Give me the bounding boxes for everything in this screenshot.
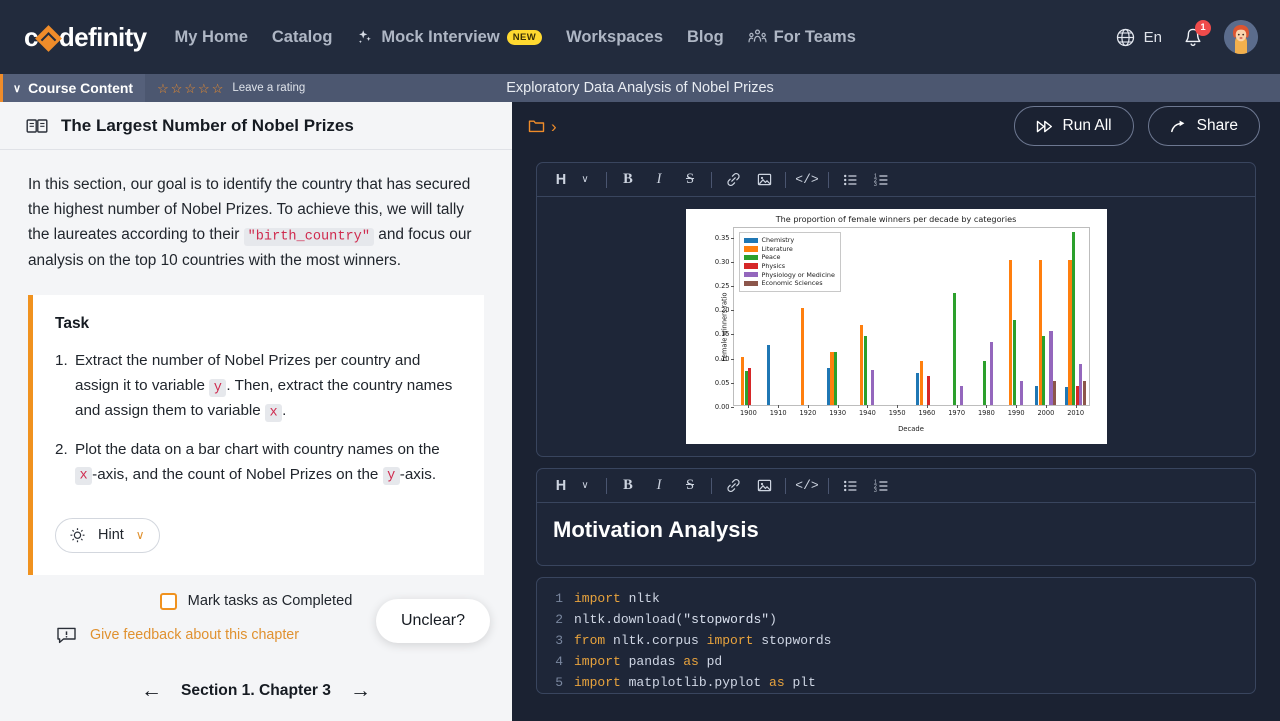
share-label: Share bbox=[1197, 117, 1238, 135]
chart-y-tick-mark bbox=[731, 359, 734, 360]
code-token: pd bbox=[707, 654, 723, 669]
lesson-body: In this section, our goal is to identify… bbox=[0, 150, 512, 645]
chevron-down-icon: ∨ bbox=[13, 82, 21, 95]
lesson-intro-paragraph: In this section, our goal is to identify… bbox=[28, 172, 484, 273]
chart-bar bbox=[864, 336, 867, 405]
chart-bar bbox=[953, 293, 956, 405]
share-button[interactable]: Share bbox=[1148, 106, 1260, 146]
course-content-toggle[interactable]: ∨ Course Content bbox=[0, 74, 145, 102]
top-navigation-bar: c definity My Home Catalog Mock Intervie… bbox=[0, 0, 1280, 74]
chart-x-tick-mark bbox=[986, 405, 987, 408]
main-split-layout: The Largest Number of Nobel Prizes In th… bbox=[0, 102, 1280, 721]
language-label: En bbox=[1144, 29, 1162, 46]
toolbar-divider bbox=[785, 478, 786, 494]
nav-item-blog-label: Blog bbox=[687, 28, 724, 47]
book-icon bbox=[26, 117, 48, 135]
chart-legend-label: Peace bbox=[762, 253, 781, 261]
chart-x-axis-label: Decade bbox=[733, 425, 1090, 433]
chart-y-tick-label: 0.25 bbox=[715, 282, 730, 290]
chart-bar bbox=[960, 386, 963, 405]
code-line-content: nltk.download("stopwords") bbox=[574, 612, 777, 627]
nav-item-workspaces[interactable]: Workspaces bbox=[566, 28, 663, 47]
code-token: "stopwords" bbox=[683, 612, 769, 627]
chart-bar bbox=[767, 345, 770, 405]
chart-bar bbox=[1072, 232, 1075, 405]
nav-item-for-teams[interactable]: For Teams bbox=[748, 28, 856, 47]
chart-x-tick-mark bbox=[1046, 405, 1047, 408]
chart-x-tick-mark bbox=[778, 405, 779, 408]
code-brackets-icon[interactable]: </> bbox=[795, 168, 819, 192]
chart-y-tick-label: 0.35 bbox=[715, 234, 730, 242]
code-editor-lines[interactable]: 1import nltk2nltk.download("stopwords")3… bbox=[537, 588, 1255, 693]
notebook-cell-output: H ∨ B I S </> bbox=[536, 162, 1256, 457]
mark-completed-label: Mark tasks as Completed bbox=[188, 593, 353, 609]
notebook-breadcrumb[interactable]: › bbox=[528, 118, 557, 135]
notebook-actions: Run All Share bbox=[1014, 106, 1261, 146]
code-token: plt bbox=[792, 675, 815, 690]
people-icon bbox=[748, 28, 767, 46]
lesson-header: The Largest Number of Nobel Prizes bbox=[0, 102, 512, 150]
chart-legend-label: Economic Sciences bbox=[762, 279, 823, 287]
course-bar: ∨ Course Content ☆ ☆ ☆ ☆ ☆ Leave a ratin… bbox=[0, 74, 1280, 102]
chart-bar bbox=[748, 368, 751, 405]
code-token: as bbox=[769, 675, 792, 690]
cell-toolbar-2: H ∨ B I S </> bbox=[537, 469, 1255, 503]
run-all-button[interactable]: Run All bbox=[1014, 106, 1134, 146]
chart-x-tick-mark bbox=[957, 405, 958, 408]
notebook-cell-markdown: H ∨ B I S </> bbox=[536, 468, 1256, 566]
notebook-panel: › Run All bbox=[512, 102, 1280, 721]
cell-toolbar-1: H ∨ B I S </> bbox=[537, 163, 1255, 197]
code-line-number: 2 bbox=[547, 612, 563, 627]
unclear-button[interactable]: Unclear? bbox=[376, 599, 490, 643]
code-line-number: 4 bbox=[547, 654, 563, 669]
bold-button[interactable]: B bbox=[616, 168, 640, 192]
user-avatar[interactable] bbox=[1224, 20, 1258, 54]
chart-y-tick-mark bbox=[731, 286, 734, 287]
task-1-var-x: x bbox=[265, 404, 282, 422]
code-token: import bbox=[574, 591, 629, 606]
star-icon-3[interactable]: ☆ bbox=[184, 82, 196, 95]
toolbar-divider bbox=[711, 478, 712, 494]
comment-alert-icon bbox=[56, 626, 77, 645]
bold-button[interactable]: B bbox=[616, 474, 640, 498]
brand-logo-text: c definity bbox=[24, 22, 147, 53]
code-line: 2nltk.download("stopwords") bbox=[537, 609, 1255, 630]
chart-y-tick-mark bbox=[731, 262, 734, 263]
nav-item-catalog-label: Catalog bbox=[272, 28, 333, 47]
toolbar-divider bbox=[785, 172, 786, 188]
chart-bar bbox=[834, 352, 837, 405]
toolbar-divider bbox=[828, 172, 829, 188]
chart-y-tick-mark bbox=[731, 383, 734, 384]
chart-legend-item: Physiology or Medicine bbox=[744, 270, 835, 279]
code-token: ) bbox=[769, 612, 777, 627]
brand-logo[interactable]: c definity bbox=[24, 22, 147, 53]
nav-item-my-home-label: My Home bbox=[175, 28, 248, 47]
folder-icon[interactable] bbox=[528, 118, 545, 134]
chart-x-tick-label: 1980 bbox=[978, 409, 995, 417]
chart-legend-item: Literature bbox=[744, 245, 835, 254]
nav-item-my-home[interactable]: My Home bbox=[175, 28, 248, 47]
chart-x-tick-label: 2010 bbox=[1067, 409, 1084, 417]
nav-item-catalog[interactable]: Catalog bbox=[272, 28, 333, 47]
chart-legend-item: Peace bbox=[744, 253, 835, 262]
chart-legend: ChemistryLiteraturePeacePhysicsPhysiolog… bbox=[739, 232, 841, 292]
heading-dropdown-button[interactable]: H bbox=[549, 474, 573, 498]
chart-bar bbox=[990, 342, 993, 405]
chart-y-tick-mark bbox=[731, 407, 734, 408]
code-line-number: 1 bbox=[547, 591, 563, 606]
chart-y-tick-mark bbox=[731, 238, 734, 239]
code-line-number: 3 bbox=[547, 633, 563, 648]
task-heading: Task bbox=[55, 315, 460, 333]
code-line-content: import matplotlib.pyplot as plt bbox=[574, 675, 816, 690]
chevron-down-icon: ∨ bbox=[136, 528, 145, 542]
give-feedback-label: Give feedback about this chapter bbox=[90, 627, 299, 643]
chart-legend-label: Chemistry bbox=[762, 236, 795, 244]
task-list: Extract the number of Nobel Prizes per c… bbox=[55, 349, 460, 487]
chart-bar bbox=[871, 370, 874, 405]
chart-y-tick-label: 0.20 bbox=[715, 306, 730, 314]
code-token: pandas bbox=[629, 654, 684, 669]
code-line: 1import nltk bbox=[537, 588, 1255, 609]
code-line-content: import pandas as pd bbox=[574, 654, 722, 669]
numbered-list-icon[interactable]: 123 bbox=[869, 474, 893, 498]
toolbar-divider bbox=[828, 478, 829, 494]
image-icon[interactable] bbox=[752, 168, 776, 192]
chart-x-tick-label: 1930 bbox=[829, 409, 846, 417]
task-2-text-c: -axis. bbox=[400, 466, 436, 483]
chart-y-tick-label: 0.30 bbox=[715, 258, 730, 266]
chart-legend-swatch bbox=[744, 246, 758, 252]
chart-y-tick-mark bbox=[731, 310, 734, 311]
task-2-var-y: y bbox=[383, 467, 400, 485]
code-token: matplotlib.pyplot bbox=[629, 675, 769, 690]
section-navigation: ← Section 1. Chapter 3 → bbox=[0, 679, 512, 703]
star-icon-4[interactable]: ☆ bbox=[198, 82, 210, 95]
chart-bar bbox=[920, 361, 923, 405]
chart-bar bbox=[927, 376, 930, 405]
chart-x-tick-mark bbox=[927, 405, 928, 408]
code-token: download bbox=[613, 612, 675, 627]
notification-count-badge: 1 bbox=[1195, 20, 1211, 36]
brand-logo-suffix: definity bbox=[59, 22, 147, 53]
chart-x-tick-label: 1950 bbox=[889, 409, 906, 417]
chart-y-tick-mark bbox=[731, 334, 734, 335]
chart-bar bbox=[1083, 381, 1086, 405]
link-icon[interactable] bbox=[721, 168, 745, 192]
strikethrough-button[interactable]: S bbox=[678, 474, 702, 498]
chart-x-tick-label: 1910 bbox=[770, 409, 787, 417]
chart-bar bbox=[1042, 336, 1045, 405]
chart-bar bbox=[1020, 381, 1023, 405]
code-token: import bbox=[707, 633, 762, 648]
chart-legend-swatch bbox=[744, 238, 758, 244]
section-chapter-label: Section 1. Chapter 3 bbox=[181, 682, 331, 700]
star-rating[interactable]: ☆ ☆ ☆ ☆ ☆ bbox=[157, 82, 223, 95]
numbered-list-icon[interactable]: 123 bbox=[869, 168, 893, 192]
diamond-code-icon bbox=[35, 25, 62, 52]
task-2-text-b: -axis, and the count of Nobel Prizes on … bbox=[92, 466, 382, 483]
chart-x-tick-mark bbox=[867, 405, 868, 408]
notebook-topbar: › Run All bbox=[512, 102, 1280, 150]
chart-legend-label: Physiology or Medicine bbox=[762, 271, 835, 279]
rating-widget[interactable]: ☆ ☆ ☆ ☆ ☆ Leave a rating bbox=[145, 82, 305, 95]
svg-text:3: 3 bbox=[874, 488, 877, 493]
code-token: as bbox=[683, 654, 706, 669]
strikethrough-button[interactable]: S bbox=[678, 168, 702, 192]
notebook-cells: H ∨ B I S </> bbox=[512, 150, 1280, 694]
matplotlib-figure: The proportion of female winners per dec… bbox=[686, 209, 1107, 444]
previous-chapter-arrow[interactable]: ← bbox=[141, 679, 162, 703]
task-1-text-c: . bbox=[282, 402, 286, 419]
toolbar-divider bbox=[711, 172, 712, 188]
chart-legend-swatch bbox=[744, 263, 758, 269]
image-icon[interactable] bbox=[752, 474, 776, 498]
star-icon-2[interactable]: ☆ bbox=[171, 82, 183, 95]
markdown-cell-text[interactable]: Motivation Analysis bbox=[537, 503, 1255, 565]
heading-dropdown-button[interactable]: H bbox=[549, 168, 573, 192]
code-token: import bbox=[574, 675, 629, 690]
code-line-content: from nltk.corpus import stopwords bbox=[574, 633, 831, 648]
chart-x-tick-mark bbox=[748, 405, 749, 408]
chart-legend-swatch bbox=[744, 255, 758, 261]
task-card: Task Extract the number of Nobel Prizes … bbox=[28, 295, 484, 574]
nav-item-for-teams-label: For Teams bbox=[774, 28, 856, 47]
chart-x-tick-mark bbox=[897, 405, 898, 408]
chart-y-tick-label: 0.15 bbox=[715, 330, 730, 338]
chart-y-axis-label: Female winners ratio bbox=[720, 292, 728, 361]
code-token: nltk bbox=[629, 591, 660, 606]
chart-x-tick-label: 1940 bbox=[859, 409, 876, 417]
chart-legend-swatch bbox=[744, 272, 758, 278]
hint-label: Hint bbox=[98, 527, 124, 543]
mark-completed-checkbox[interactable] bbox=[160, 593, 177, 610]
nav-item-workspaces-label: Workspaces bbox=[566, 28, 663, 47]
course-content-label: Course Content bbox=[28, 80, 133, 96]
nav-badge-new: NEW bbox=[507, 30, 542, 45]
nav-item-mock-interview-label: Mock Interview bbox=[381, 28, 499, 47]
chart-x-tick-mark bbox=[1076, 405, 1077, 408]
globe-icon bbox=[1115, 27, 1136, 48]
chart-y-tick-label: 0.10 bbox=[715, 355, 730, 363]
svg-text:3: 3 bbox=[874, 182, 877, 187]
code-line-number: 5 bbox=[547, 675, 563, 690]
chart-legend-item: Economic Sciences bbox=[744, 279, 835, 288]
task-item-2: Plot the data on a bar chart with countr… bbox=[55, 438, 460, 488]
chart-x-tick-label: 1900 bbox=[740, 409, 757, 417]
chart-x-tick-label: 1920 bbox=[799, 409, 816, 417]
chart-x-tick-mark bbox=[1016, 405, 1017, 408]
task-2-var-x: x bbox=[75, 467, 92, 485]
chart-y-tick-label: 0.05 bbox=[715, 379, 730, 387]
lightbulb-icon bbox=[69, 527, 86, 544]
task-item-1: Extract the number of Nobel Prizes per c… bbox=[55, 349, 460, 424]
code-token: import bbox=[574, 654, 629, 669]
next-chapter-arrow[interactable]: → bbox=[350, 679, 371, 703]
chevron-down-icon[interactable]: ∨ bbox=[573, 168, 597, 192]
bullet-list-icon[interactable] bbox=[838, 168, 862, 192]
code-line-content: import nltk bbox=[574, 591, 660, 606]
chart-title: The proportion of female winners per dec… bbox=[686, 214, 1107, 224]
code-line: 4import pandas as pd bbox=[537, 651, 1255, 672]
code-line: 5import matplotlib.pyplot as plt bbox=[537, 672, 1255, 693]
chart-x-tick-label: 1970 bbox=[948, 409, 965, 417]
top-nav-right-cluster: En 1 bbox=[1115, 0, 1258, 74]
toolbar-divider bbox=[606, 478, 607, 494]
chart-x-tick-mark bbox=[808, 405, 809, 408]
star-icon-1[interactable]: ☆ bbox=[157, 82, 169, 95]
code-line: 3from nltk.corpus import stopwords bbox=[537, 630, 1255, 651]
chart-legend-swatch bbox=[744, 281, 758, 287]
chevron-down-icon[interactable]: ∨ bbox=[573, 474, 597, 498]
chart-x-tick-label: 2000 bbox=[1037, 409, 1054, 417]
code-token: nltk.corpus bbox=[613, 633, 707, 648]
chart-plot-area: ChemistryLiteraturePeacePhysicsPhysiolog… bbox=[733, 227, 1090, 406]
code-brackets-icon[interactable]: </> bbox=[795, 474, 819, 498]
lesson-panel: The Largest Number of Nobel Prizes In th… bbox=[0, 102, 512, 721]
chart-legend-label: Physics bbox=[762, 262, 786, 270]
chart-legend-item: Physics bbox=[744, 262, 835, 271]
page-title: The Largest Number of Nobel Prizes bbox=[61, 116, 354, 136]
bullet-list-icon[interactable] bbox=[838, 474, 862, 498]
share-arrow-icon bbox=[1170, 119, 1187, 134]
code-token: from bbox=[574, 633, 613, 648]
task-2-text-a: Plot the data on a bar chart with countr… bbox=[75, 441, 440, 458]
chart-bar bbox=[801, 308, 804, 405]
code-token: . bbox=[605, 612, 613, 627]
sparkle-icon bbox=[356, 28, 374, 46]
chart-x-tick-label: 1960 bbox=[918, 409, 935, 417]
nav-item-mock-interview[interactable]: Mock Interview NEW bbox=[356, 28, 542, 47]
link-icon[interactable] bbox=[721, 474, 745, 498]
chart-x-tick-mark bbox=[838, 405, 839, 408]
code-token: nltk bbox=[574, 612, 605, 627]
run-all-label: Run All bbox=[1063, 117, 1112, 135]
language-selector[interactable]: En bbox=[1115, 27, 1162, 48]
chart-bar bbox=[983, 361, 986, 405]
cell-output-area: The proportion of female winners per dec… bbox=[537, 197, 1255, 456]
chart-bar bbox=[1053, 381, 1056, 405]
toolbar-divider bbox=[606, 172, 607, 188]
star-icon-5[interactable]: ☆ bbox=[212, 82, 224, 95]
fast-forward-icon bbox=[1036, 120, 1053, 133]
inline-code-birth-country: "birth_country" bbox=[244, 228, 374, 246]
nav-item-blog[interactable]: Blog bbox=[687, 28, 724, 47]
chevron-right-icon[interactable]: › bbox=[551, 118, 557, 135]
notifications-button[interactable]: 1 bbox=[1182, 26, 1204, 49]
chart-y-tick-label: 0.00 bbox=[715, 403, 730, 411]
chart-legend-item: Chemistry bbox=[744, 236, 835, 245]
hint-toggle-button[interactable]: Hint ∨ bbox=[55, 518, 160, 553]
chart-bar bbox=[1013, 320, 1016, 405]
chart-legend-label: Literature bbox=[762, 245, 793, 253]
chart-x-tick-label: 1990 bbox=[1008, 409, 1025, 417]
italic-button[interactable]: I bbox=[647, 474, 671, 498]
notebook-cell-code[interactable]: 1import nltk2nltk.download("stopwords")3… bbox=[536, 577, 1256, 694]
leave-rating-label: Leave a rating bbox=[232, 82, 305, 94]
task-1-var-y: y bbox=[209, 379, 226, 397]
italic-button[interactable]: I bbox=[647, 168, 671, 192]
code-token: stopwords bbox=[761, 633, 831, 648]
